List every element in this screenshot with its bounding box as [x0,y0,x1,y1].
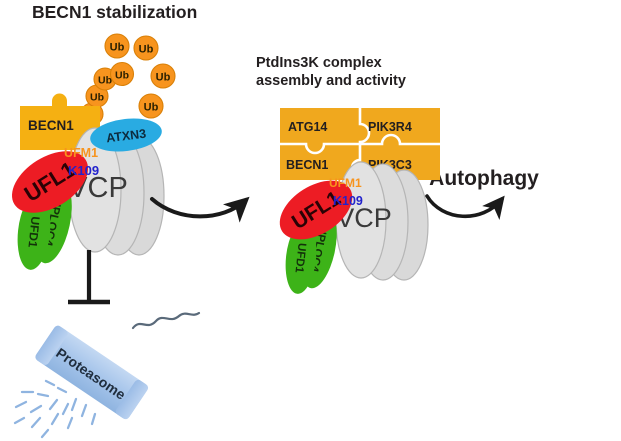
ub-molecule: Ub [105,34,129,58]
ub-molecule: Ub [151,64,175,88]
left-complex: BECN1 VCP ATXN3 NPLOC4 UFD1 UFL1 [1,94,164,272]
puzzle-label-becn1: BECN1 [286,158,328,172]
k109-label: K109 [333,194,363,208]
ufm1-label: UFM1 [64,146,98,160]
heading-ptdins3k-line1: PtdIns3K complex [256,55,382,71]
ub-molecule: Ub [134,36,158,60]
k109-label: K109 [68,163,99,178]
ub-label: Ub [90,92,104,104]
ub-label: Ub [98,75,112,87]
ub-label: Ub [156,72,171,84]
ub-label: Ub [115,70,129,82]
puzzle-label-atg14: ATG14 [288,120,327,134]
right-complex: ATG14 PIK3R4 BECN1 PIK3C3 VCP NPLOC4 UFD… [269,108,440,295]
heading-ptdins3k-line2: assembly and activity [256,73,406,89]
ufm1-label: UFM1 [329,176,362,190]
ub-label: Ub [110,42,125,54]
ub-molecule: Ub [139,94,163,118]
ub-label: Ub [144,102,159,114]
diagram-canvas: BECN1 stabilization PtdIns3K complex ass… [0,0,621,441]
heading-autophagy: Autophagy [429,167,539,190]
becn1-label: BECN1 [28,118,74,133]
ub-molecule: Ub [111,63,134,86]
ub-label: Ub [139,44,154,56]
puzzle-label-pik3r4: PIK3R4 [368,120,412,134]
heading-becn1-stabilization: BECN1 stabilization [32,2,197,22]
